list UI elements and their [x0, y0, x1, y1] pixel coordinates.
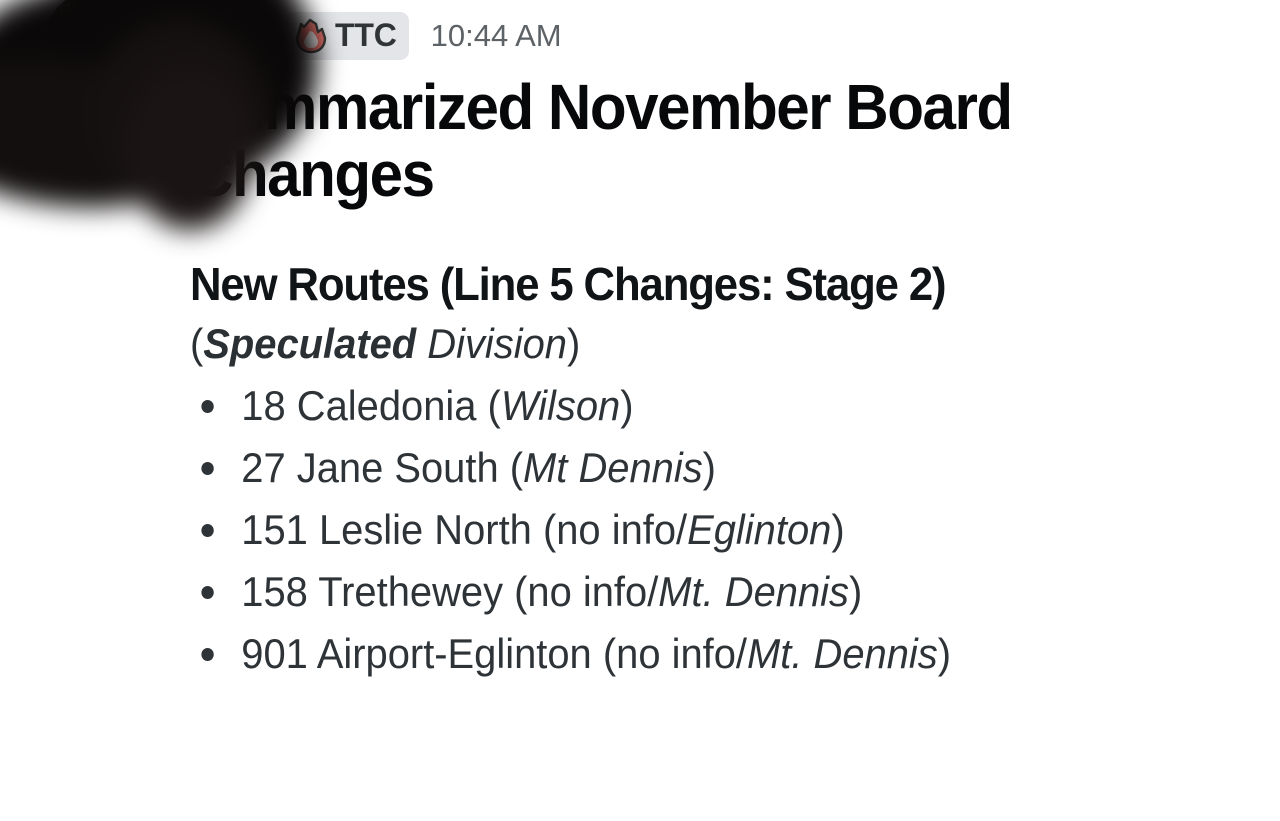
list-item: 901 Airport-Eglinton (no info/Mt. Dennis… [190, 623, 1207, 685]
flame-icon [294, 18, 328, 54]
username[interactable]: layster [158, 17, 269, 56]
avatar[interactable] [46, 0, 138, 84]
bullet-icon [201, 524, 213, 537]
section-title: New Routes (Line 5 Changes: Stage 2) [190, 259, 1207, 310]
role-badge[interactable]: TTC [285, 12, 409, 60]
message-header: layster TTC 10:44 AM [0, 0, 1280, 72]
route-division: Mt. Dennis [658, 568, 849, 615]
bullet-icon [201, 648, 213, 661]
route-close: ) [620, 382, 633, 429]
subtitle-speculated: Speculated [203, 320, 416, 367]
list-item: 151 Leslie North (no info/Eglinton) [190, 499, 1207, 561]
bullet-icon [201, 400, 213, 413]
route-open: ( [510, 444, 523, 491]
route-open: (no info/ [603, 630, 747, 677]
route-open: (no info/ [514, 568, 658, 615]
subtitle-open-paren: ( [190, 320, 203, 367]
route-close: ) [849, 568, 862, 615]
route-name: 151 Leslie North [241, 506, 543, 553]
bullet-icon [201, 586, 213, 599]
route-division: Eglinton [687, 506, 831, 553]
division-subtitle: (Speculated Division) [190, 320, 1207, 367]
route-name: 27 Jane South [241, 444, 509, 491]
route-name: 901 Airport-Eglinton [241, 630, 603, 677]
bullet-icon [201, 462, 213, 475]
route-open: ( [488, 382, 501, 429]
route-close: ) [831, 506, 844, 553]
subtitle-space [416, 320, 427, 367]
subtitle-division: Division [427, 320, 567, 367]
screenshot-canvas: layster TTC 10:44 AM Summarized November… [0, 0, 1280, 821]
route-list: 18 Caledonia (Wilson) 27 Jane South (Mt … [190, 375, 1260, 686]
route-name: 158 Trethewey [241, 568, 514, 615]
role-badge-label: TTC [335, 19, 397, 53]
message-body: Summarized November Board Changes New Ro… [190, 74, 1260, 686]
route-close: ) [703, 444, 716, 491]
route-name: 18 Caledonia [241, 382, 487, 429]
list-item: 158 Trethewey (no info/Mt. Dennis) [190, 561, 1207, 623]
list-item: 18 Caledonia (Wilson) [190, 375, 1207, 437]
subtitle-close-paren: ) [567, 320, 580, 367]
message-timestamp: 10:44 AM [431, 18, 562, 54]
list-item: 27 Jane South (Mt Dennis) [190, 437, 1207, 499]
message-heading: Summarized November Board Changes [190, 74, 1196, 207]
route-division: Wilson [501, 382, 620, 429]
route-division: Mt Dennis [523, 444, 703, 491]
route-close: ) [938, 630, 951, 677]
route-open: (no info/ [543, 506, 687, 553]
route-division: Mt. Dennis [747, 630, 938, 677]
